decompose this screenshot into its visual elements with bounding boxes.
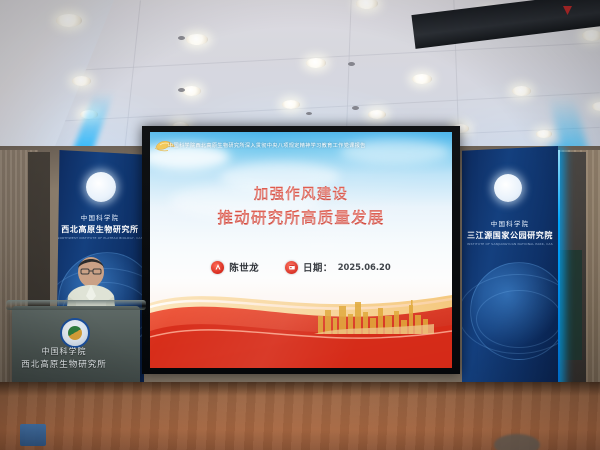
pillar-right-institute: 三江源国家公园研究院	[462, 230, 558, 241]
pillar-right-round-light-icon	[494, 174, 522, 202]
podium-academy-text: 中国科学院	[0, 346, 128, 357]
pillar-right-english: INSTITUTE OF SANJIANGYUAN NATIONAL PARK,…	[462, 242, 558, 246]
pillar-left-academy: 中国科学院	[56, 212, 144, 222]
foreground-head-silhouette	[494, 434, 540, 450]
pillar-left-round-light-icon	[86, 172, 116, 202]
pillar-right-academy: 中国科学院	[462, 218, 558, 228]
cas-emblem-icon	[60, 318, 90, 348]
side-door[interactable]	[558, 250, 582, 360]
date-label: 日期：	[303, 260, 333, 274]
podium-top-surface	[6, 300, 146, 310]
speaker-name: 陈世龙	[229, 260, 259, 274]
floor-blue-object	[20, 424, 46, 446]
date-meta: 日期： 2025.06.20	[285, 260, 391, 274]
screen-meta-row: 陈世龙 日期： 2025.06.20	[150, 260, 452, 274]
podium-institute-text: 西北高原生物研究所	[0, 358, 128, 370]
pillar-left-english: NORTHWEST INSTITUTE OF PLATEAU BIOLOGY, …	[56, 236, 144, 240]
skyline-graphic	[314, 300, 434, 334]
screen-title-line1: 加强作风建设	[150, 184, 452, 206]
screen-header-banner: 中国科学院西北高原生物研究所深入贯彻中央八项规定精神学习教育工作党课报告	[168, 142, 444, 149]
conference-hall-photo: 中国科学院 西北高原生物研究所 NORTHWEST INSTITUTE OF P…	[0, 0, 600, 450]
speaker-badge-icon	[211, 261, 224, 274]
pillar-left-institute: 西北高原生物研究所	[56, 224, 144, 235]
date-value: 2025.06.20	[338, 262, 391, 272]
screen-title-line2: 推动研究所高质量发展	[150, 206, 452, 230]
signage-pillar-right: 中国科学院 三江源国家公园研究院 INSTITUTE OF SANJIANGYU…	[462, 146, 558, 384]
screen-title-block: 加强作风建设 推动研究所高质量发展	[150, 184, 452, 230]
calendar-badge-icon	[285, 261, 298, 274]
led-screen[interactable]: 中国科学院西北高原生物研究所深入贯彻中央八项规定精神学习教育工作党课报告 加强作…	[150, 132, 452, 368]
speaker-meta: 陈世龙	[211, 260, 259, 274]
